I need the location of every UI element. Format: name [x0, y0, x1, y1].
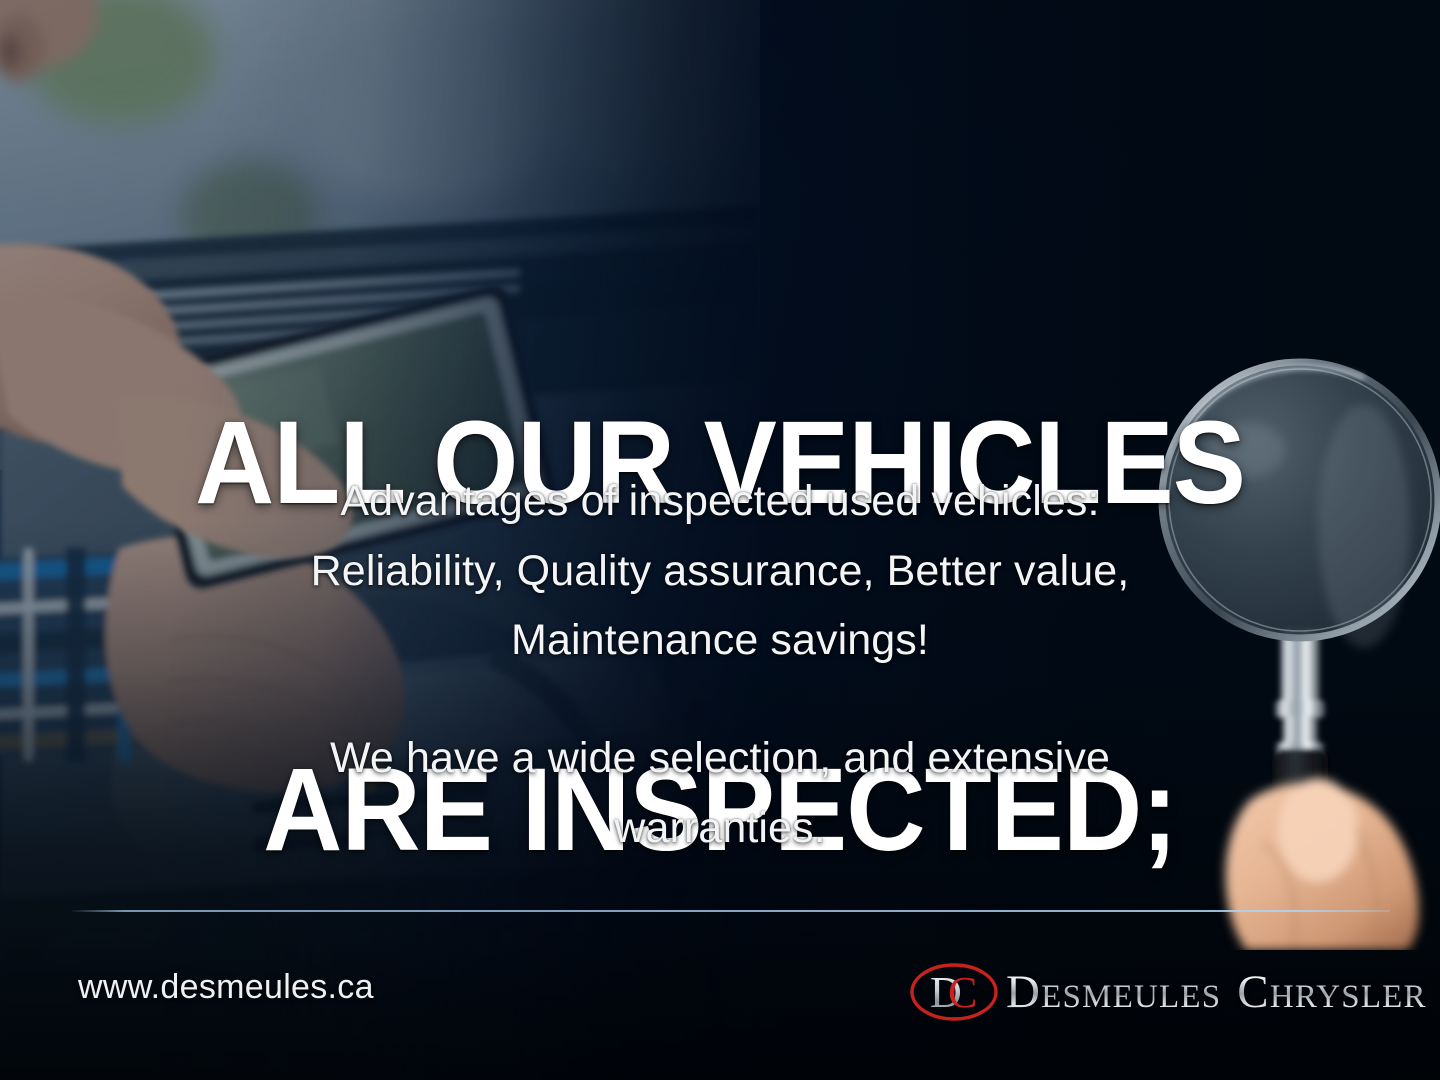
dealership-logo[interactable]: D C DesmeulesChrysler	[908, 952, 1427, 1032]
paragraph-selection: We have a wide selection, and extensive …	[240, 724, 1200, 863]
body-copy: Advantages of inspected used vehicles: R…	[240, 424, 1200, 906]
promotional-slide: ALL OUR VEHICLES ARE INSPECTED; Advantag…	[0, 0, 1440, 1080]
footer-divider	[72, 910, 1390, 912]
paragraph-advantages: Advantages of inspected used vehicles: R…	[240, 467, 1200, 676]
brand-name-first: Desmeules	[1006, 966, 1221, 1018]
brand-name-second: Chrysler	[1237, 966, 1426, 1018]
website-url[interactable]: www.desmeules.ca	[78, 968, 374, 1007]
dc-monogram-icon: D C	[908, 957, 1000, 1027]
brand-wordmark: DesmeulesChrysler	[1006, 969, 1427, 1016]
monogram-letter-c: C	[948, 968, 977, 1017]
